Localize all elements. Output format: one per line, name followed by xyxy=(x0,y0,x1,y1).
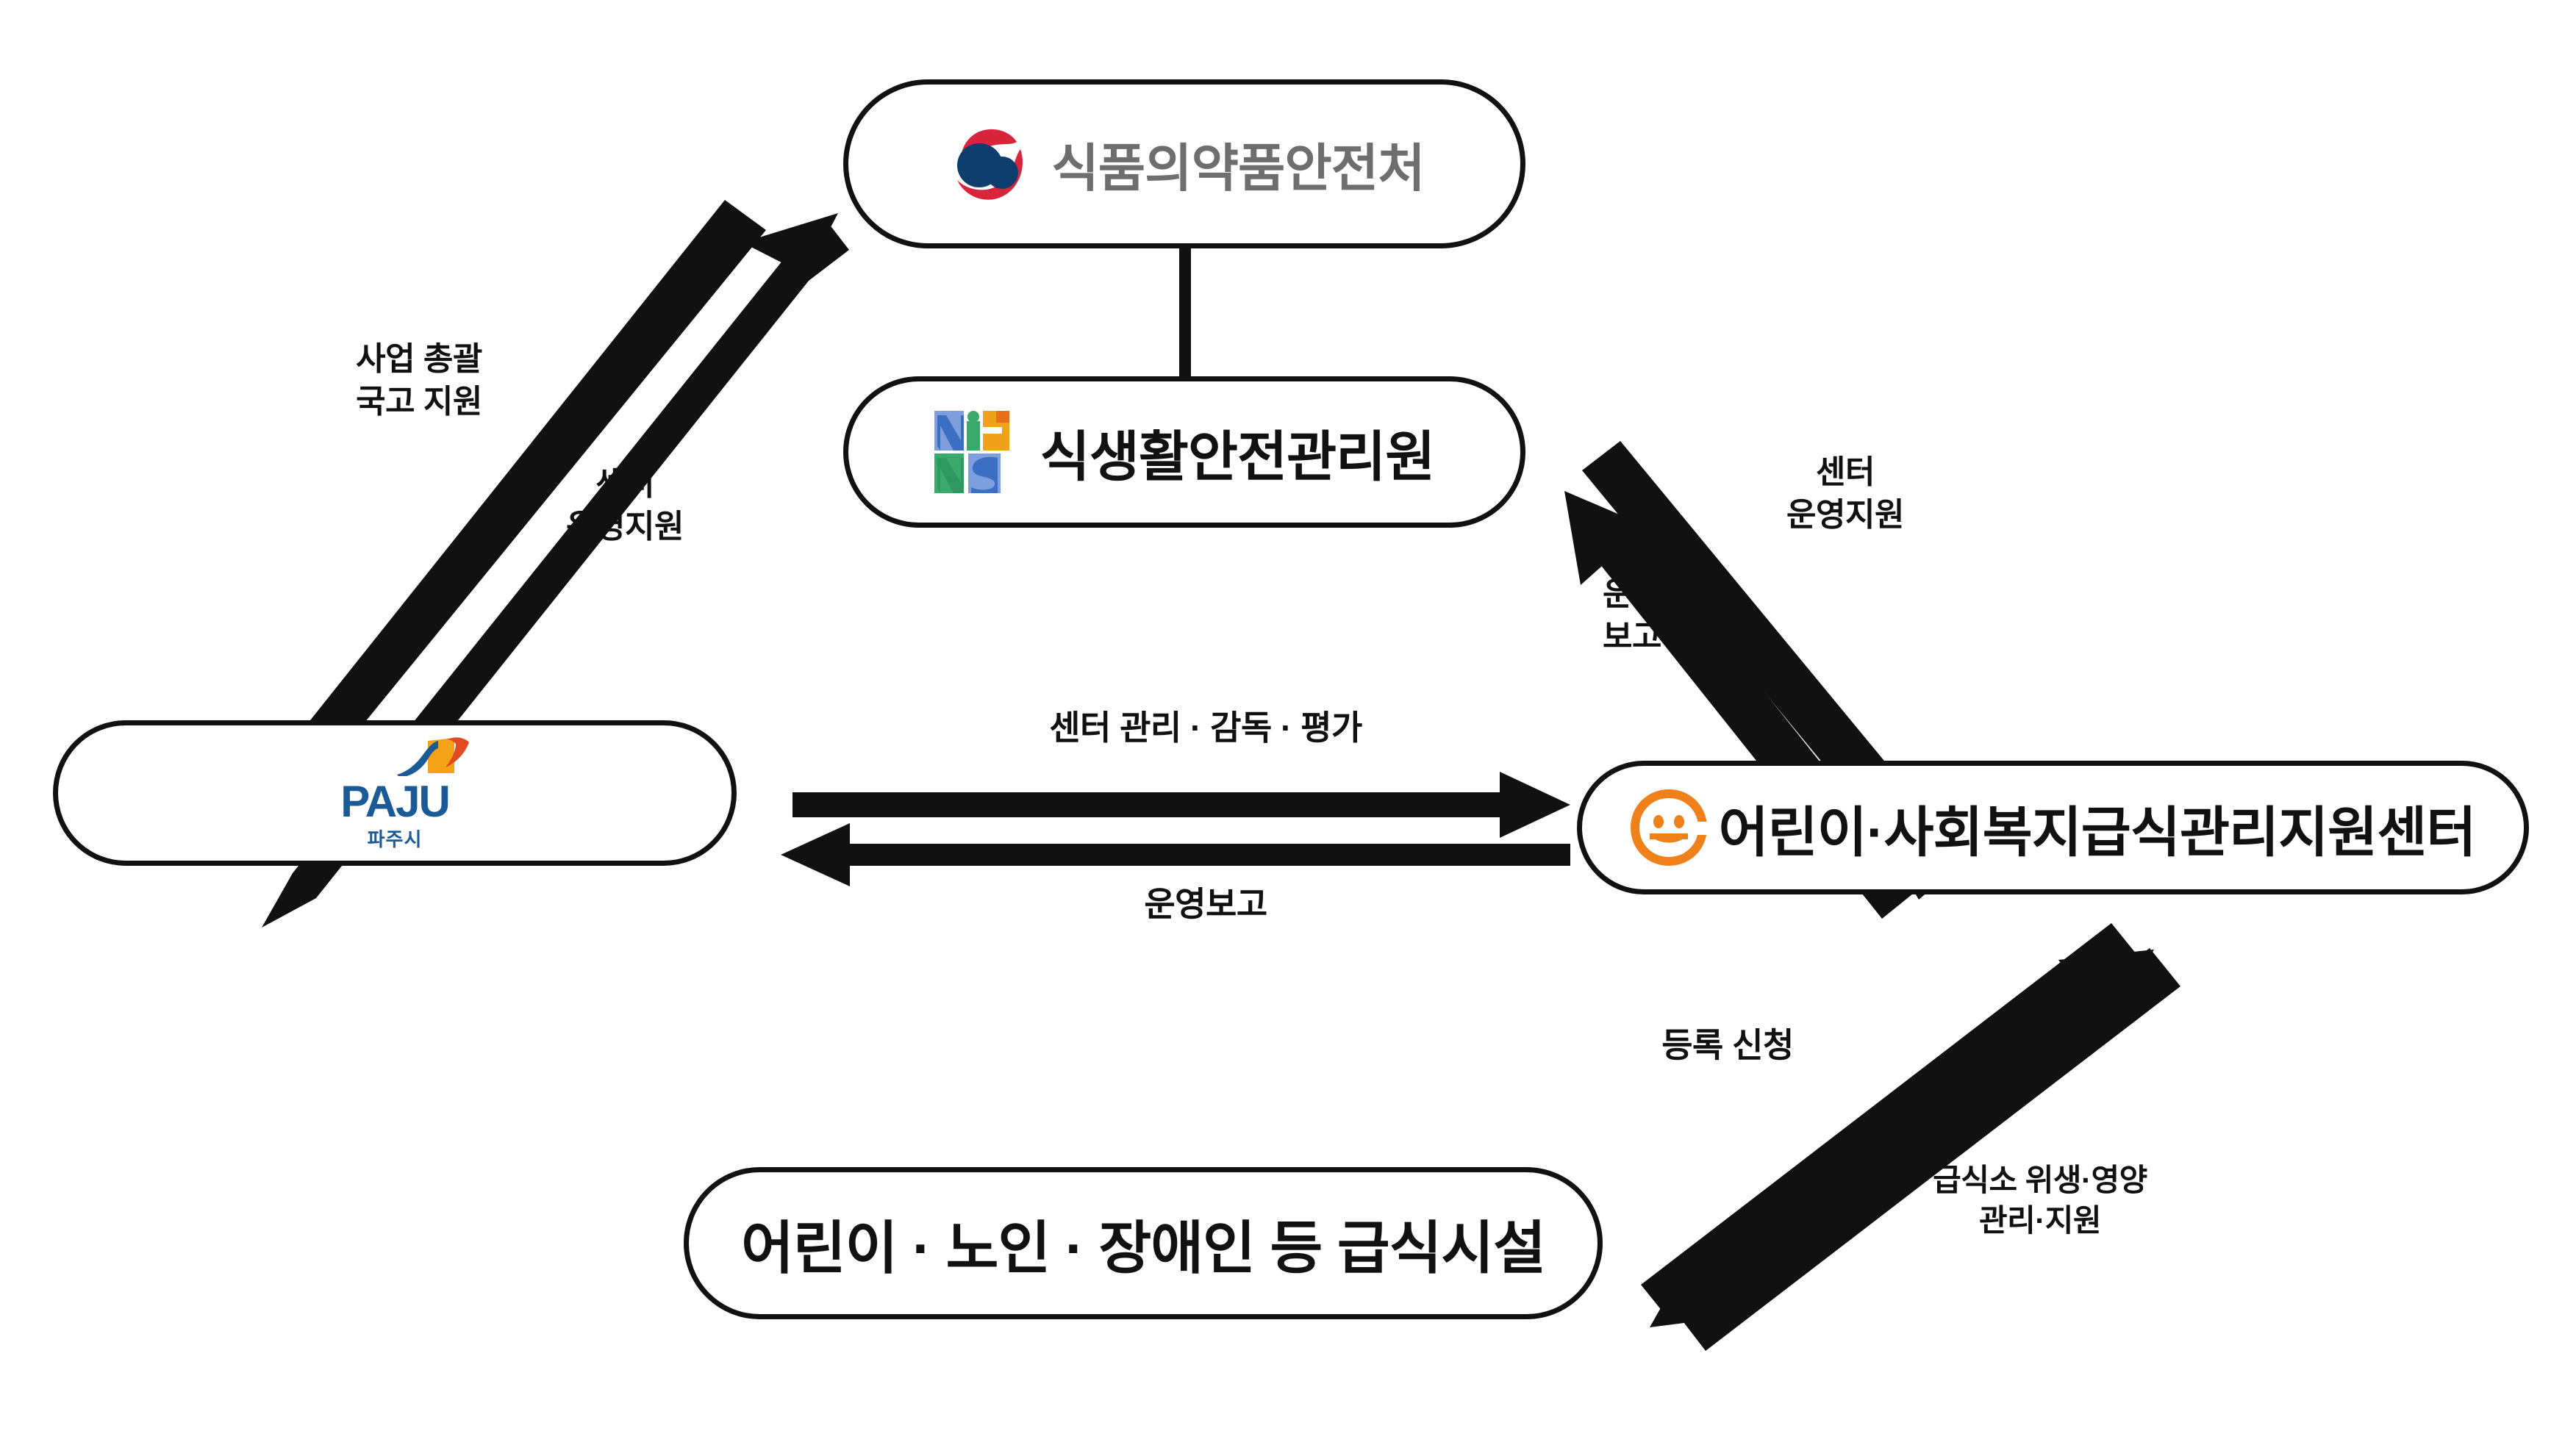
arrow-paju-to-center xyxy=(793,792,1539,817)
arrow-center-to-paju-head xyxy=(781,823,850,886)
node-center[interactable]: 어린이·사회복지급식관리지원센터 xyxy=(1577,761,2529,894)
paju-logo-sub: 파주시 xyxy=(310,825,479,852)
paju-logo-word: PAJU xyxy=(310,776,479,827)
korea-government-emblem-icon xyxy=(944,120,1032,208)
diagram-canvas: 식품의약품안전처 xyxy=(0,0,2576,1442)
edge-label-mfds-to-paju: 사업 총괄 국고 지원 xyxy=(294,338,544,423)
nifds-logo-icon xyxy=(934,411,1015,493)
node-center-label: 어린이·사회복지급식관리지원센터 xyxy=(1719,789,2476,867)
smiley-face-logo-icon xyxy=(1631,789,1707,866)
arrow-center-to-paju xyxy=(825,844,1570,866)
paju-city-logo-icon: PAJU 파주시 xyxy=(310,738,479,848)
edge-label-center-to-nifds: 운영 보고 xyxy=(1536,573,1728,659)
edge-label-facilities-to-center: 등록 신청 xyxy=(1603,1023,1853,1068)
arrow-paju-to-center-head xyxy=(1500,772,1570,838)
node-mfds-label: 식품의약품안전처 xyxy=(1051,127,1424,201)
node-paju[interactable]: PAJU 파주시 xyxy=(53,720,737,866)
edge-label-paju-to-center: 센터 관리 · 감독 · 평가 xyxy=(890,706,1522,750)
edge-label-center-to-paju: 운영보고 xyxy=(926,882,1485,927)
arrow-facilities-to-center xyxy=(1641,923,2142,1323)
arrow-center-to-facilities xyxy=(1676,948,2180,1351)
node-mfds[interactable]: 식품의약품안전처 xyxy=(843,79,1525,248)
edge-label-paju-to-mfds: 센터 운영지원 xyxy=(515,463,735,548)
edge-label-center-to-facilities: 급식소 위생·영양 관리·지원 xyxy=(1875,1160,2205,1241)
edge-label-nifds-to-center: 센터 운영지원 xyxy=(1728,451,1963,537)
node-facilities[interactable]: 어린이 · 노인 · 장애인 등 급식시설 xyxy=(684,1167,1603,1319)
connector-mfds-nifds xyxy=(1179,247,1191,379)
node-nifds[interactable]: 식생활안전관리원 xyxy=(843,376,1525,528)
node-nifds-label: 식생활안전관리원 xyxy=(1040,413,1435,492)
node-facilities-label: 어린이 · 노인 · 장애인 등 급식시설 xyxy=(741,1202,1545,1285)
